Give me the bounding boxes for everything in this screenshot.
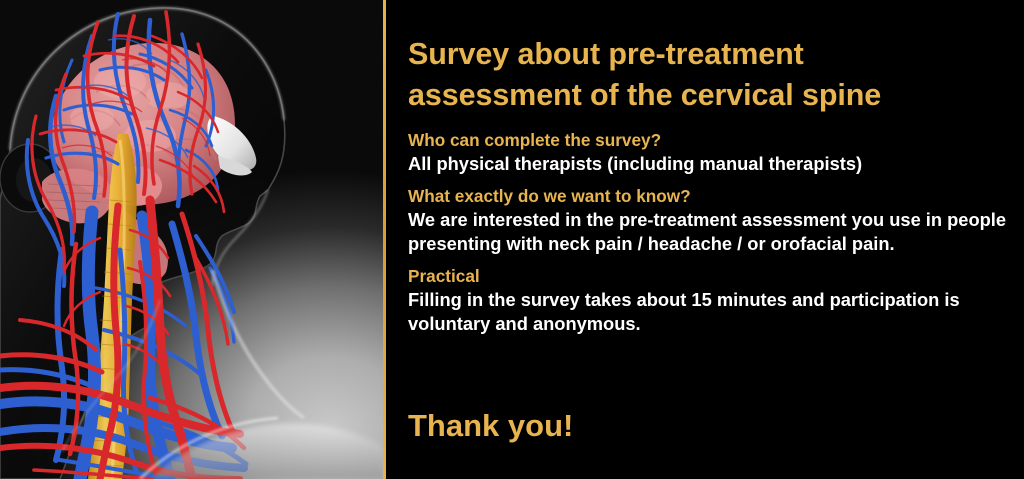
- section-heading: Practical: [408, 265, 1012, 287]
- section-practical: Practical Filling in the survey takes ab…: [408, 265, 1012, 335]
- page-title: Survey about pre-treatment assessment of…: [408, 34, 1008, 115]
- section-what-we-want-to-know: What exactly do we want to know? We are …: [408, 185, 1012, 255]
- section-who-can-complete: Who can complete the survey? All physica…: [408, 129, 1012, 175]
- anatomy-head-neck-illustration: [0, 0, 383, 479]
- title-line-1: Survey about pre-treatment: [408, 37, 804, 71]
- vertical-gold-divider: [383, 0, 386, 479]
- section-body: We are interested in the pre-treatment a…: [408, 208, 1012, 255]
- survey-info-sections: Who can complete the survey? All physica…: [408, 129, 1012, 345]
- survey-poster: Survey about pre-treatment assessment of…: [0, 0, 1024, 479]
- section-heading: What exactly do we want to know?: [408, 185, 1012, 207]
- section-heading: Who can complete the survey?: [408, 129, 1012, 151]
- thank-you-message: Thank you!: [408, 407, 573, 444]
- section-body: Filling in the survey takes about 15 min…: [408, 288, 1012, 335]
- section-body: All physical therapists (including manua…: [408, 152, 1012, 175]
- title-line-2: assessment of the cervical spine: [408, 78, 881, 112]
- text-content-panel: Survey about pre-treatment assessment of…: [386, 0, 1024, 479]
- anatomy-illustration-panel: [0, 0, 383, 479]
